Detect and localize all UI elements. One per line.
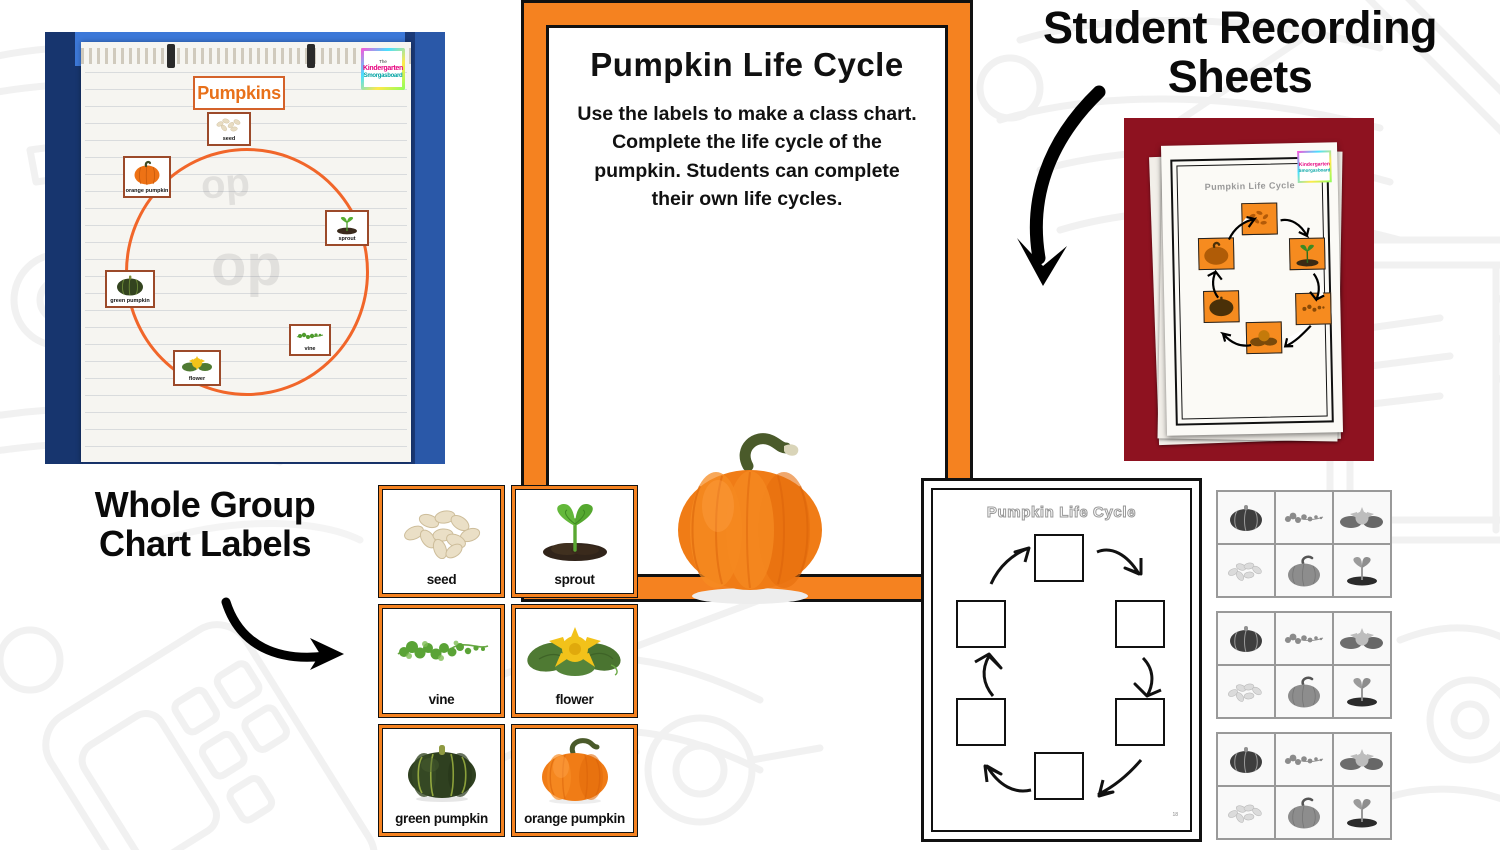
label-card-caption: seed	[427, 572, 457, 593]
label-card-orange-pumpkin[interactable]: orange pumpkin	[511, 724, 638, 837]
cutout-grid[interactable]	[1216, 611, 1392, 719]
cutout-cell-sprout[interactable]	[1333, 786, 1391, 839]
logo-line-3: Smorgasboard	[364, 73, 403, 79]
cutout-cell-flower[interactable]	[1333, 491, 1391, 544]
label-card-caption: flower	[556, 692, 594, 713]
classroom-wall-left	[45, 32, 83, 464]
sprout-icon	[327, 212, 367, 237]
anchor-card-flower: flower	[173, 350, 221, 386]
cutout-cell-sprout[interactable]	[1333, 544, 1391, 597]
arrow-to-chart-labels-icon	[218, 598, 358, 676]
worksheet-arrow-down-left-icon	[1093, 754, 1147, 800]
cutout-cell-green-pumpkin[interactable]	[1217, 612, 1275, 665]
label-card-caption: vine	[429, 692, 455, 713]
worksheet-arrow-up-icon	[971, 650, 1011, 700]
cutout-cell-seed[interactable]	[1217, 544, 1275, 597]
cutout-cell-vine[interactable]	[1275, 733, 1333, 786]
cutout-cell-vine[interactable]	[1275, 612, 1333, 665]
anchor-card-label: flower	[189, 377, 205, 383]
worksheet-arrow-up-left-icon	[981, 756, 1035, 800]
poster-title: Pumpkin Life Cycle	[549, 46, 945, 84]
green-pumpkin-icon	[383, 729, 500, 811]
anchor-card-sprout: sprout	[325, 210, 369, 246]
chart-paper: op op Pumpkins	[81, 42, 411, 462]
cutout-grid[interactable]	[1216, 732, 1392, 840]
whole-group-heading: Whole Group Chart Labels	[55, 486, 355, 564]
chart-clip-left	[167, 44, 175, 68]
worksheet-box-bottom[interactable]	[1034, 752, 1084, 800]
anchor-card-seed: seed	[207, 112, 251, 146]
cutout-cell-orange-pumpkin[interactable]	[1275, 786, 1333, 839]
anchor-card-vine: vine	[289, 324, 331, 356]
logo-line-2: Kindergarten	[363, 65, 403, 72]
worksheet-frame-inner: Pumpkin Life Cycle	[1176, 162, 1327, 419]
pumpkin-photo	[660, 418, 840, 608]
worksheet-box-top[interactable]	[1034, 534, 1084, 582]
logo-line-3: Smorgasboard	[1299, 167, 1331, 173]
cutout-cell-seed[interactable]	[1217, 665, 1275, 718]
label-card-caption: orange pumpkin	[524, 811, 625, 832]
worksheet-box-left-upper[interactable]	[956, 600, 1006, 648]
flower-icon	[175, 352, 219, 377]
cutout-cell-orange-pumpkin[interactable]	[1275, 544, 1333, 597]
orange-pumpkin-icon	[125, 158, 169, 189]
classroom-wall-right	[415, 32, 445, 464]
cutout-cell-sprout[interactable]	[1333, 665, 1391, 718]
worksheet-title: Pumpkin Life Cycle	[933, 504, 1190, 521]
vine-icon	[383, 609, 500, 691]
cutout-cell-orange-pumpkin[interactable]	[1275, 665, 1333, 718]
cutout-cell-green-pumpkin[interactable]	[1217, 733, 1275, 786]
worksheet-arrow-icon	[1224, 215, 1259, 244]
worksheet-arrow-icon	[1278, 214, 1313, 243]
label-card-sprout[interactable]: sprout	[511, 485, 638, 598]
anchor-card-label: green pumpkin	[110, 299, 149, 305]
cutout-cell-vine[interactable]	[1275, 491, 1333, 544]
product-preview-canvas: op op Pumpkins	[0, 0, 1500, 850]
worksheet-box-right-lower[interactable]	[1115, 698, 1165, 746]
worksheet-frame-outer: Pumpkin Life Cycle	[1170, 156, 1334, 425]
whole-group-heading-text: Whole Group Chart Labels	[95, 484, 315, 564]
worksheet-inner-border: Pumpkin Life Cycle	[931, 488, 1192, 832]
completed-worksheet: Pumpkin Life Cycle	[1161, 142, 1343, 436]
label-card-green-pumpkin[interactable]: green pumpkin	[378, 724, 505, 837]
cutout-cell-seed[interactable]	[1217, 786, 1275, 839]
brand-logo: The Kindergarten Smorgasboard	[361, 48, 405, 90]
worksheet-arrow-icon	[1219, 325, 1254, 354]
green-pumpkin-icon	[107, 272, 153, 299]
arrow-to-student-sheets-icon	[995, 70, 1125, 320]
worksheet-arrow-icon	[1306, 271, 1333, 302]
flower-icon	[516, 609, 633, 691]
vine-icon	[291, 326, 329, 347]
anchor-card-orange-pumpkin: orange pumpkin	[123, 156, 171, 198]
label-card-flower[interactable]: flower	[511, 604, 638, 717]
label-card-caption: sprout	[554, 572, 594, 593]
anchor-card-label: seed	[223, 137, 236, 143]
cutout-cell-flower[interactable]	[1333, 612, 1391, 665]
worksheet-page-number: 18	[1172, 812, 1178, 818]
chart-label-cards-grid: seed sprout	[378, 485, 638, 837]
label-card-caption: green pumpkin	[395, 811, 488, 832]
worksheet-box-right-upper[interactable]	[1115, 600, 1165, 648]
worksheet-arrow-down-right-icon	[1093, 542, 1147, 586]
anchor-chart-title: Pumpkins	[197, 83, 281, 104]
chart-clip-right	[307, 44, 315, 68]
brand-logo: Kindergarten Smorgasboard	[1297, 150, 1332, 183]
anchor-card-green-pumpkin: green pumpkin	[105, 270, 155, 308]
poster-description: Use the labels to make a class chart. Co…	[573, 100, 921, 213]
label-card-vine[interactable]: vine	[378, 604, 505, 717]
orange-chip-sprout	[1289, 237, 1326, 270]
cutout-grid[interactable]	[1216, 490, 1392, 598]
worksheet-arrow-icon	[1281, 322, 1316, 351]
blank-worksheet: Pumpkin Life Cycle	[921, 478, 1202, 842]
sprout-icon	[516, 490, 633, 572]
anchor-card-label: vine	[304, 347, 315, 353]
cutout-strips-column	[1216, 490, 1392, 840]
anchor-chart-title-card: Pumpkins	[193, 76, 285, 110]
logo-line-1: The	[379, 59, 387, 64]
pumpkin-seeds-icon	[209, 114, 249, 137]
cutout-cell-flower[interactable]	[1333, 733, 1391, 786]
cutout-cell-green-pumpkin[interactable]	[1217, 491, 1275, 544]
worksheet-arrow-icon	[1204, 269, 1231, 300]
anchor-card-label: orange pumpkin	[126, 189, 169, 195]
student-recording-sheets-photo: Pumpkin Life Cycle	[1124, 118, 1374, 461]
worksheet-box-left-lower[interactable]	[956, 698, 1006, 746]
pumpkin-seeds-icon	[383, 490, 500, 572]
label-card-seed[interactable]: seed	[378, 485, 505, 598]
worksheet-arrow-down-icon	[1129, 654, 1169, 700]
anchor-card-label: sprout	[338, 237, 355, 243]
worksheet-arrow-up-right-icon	[985, 542, 1035, 588]
orange-pumpkin-icon	[516, 729, 633, 811]
anchor-chart-photo: op op Pumpkins	[45, 32, 445, 464]
